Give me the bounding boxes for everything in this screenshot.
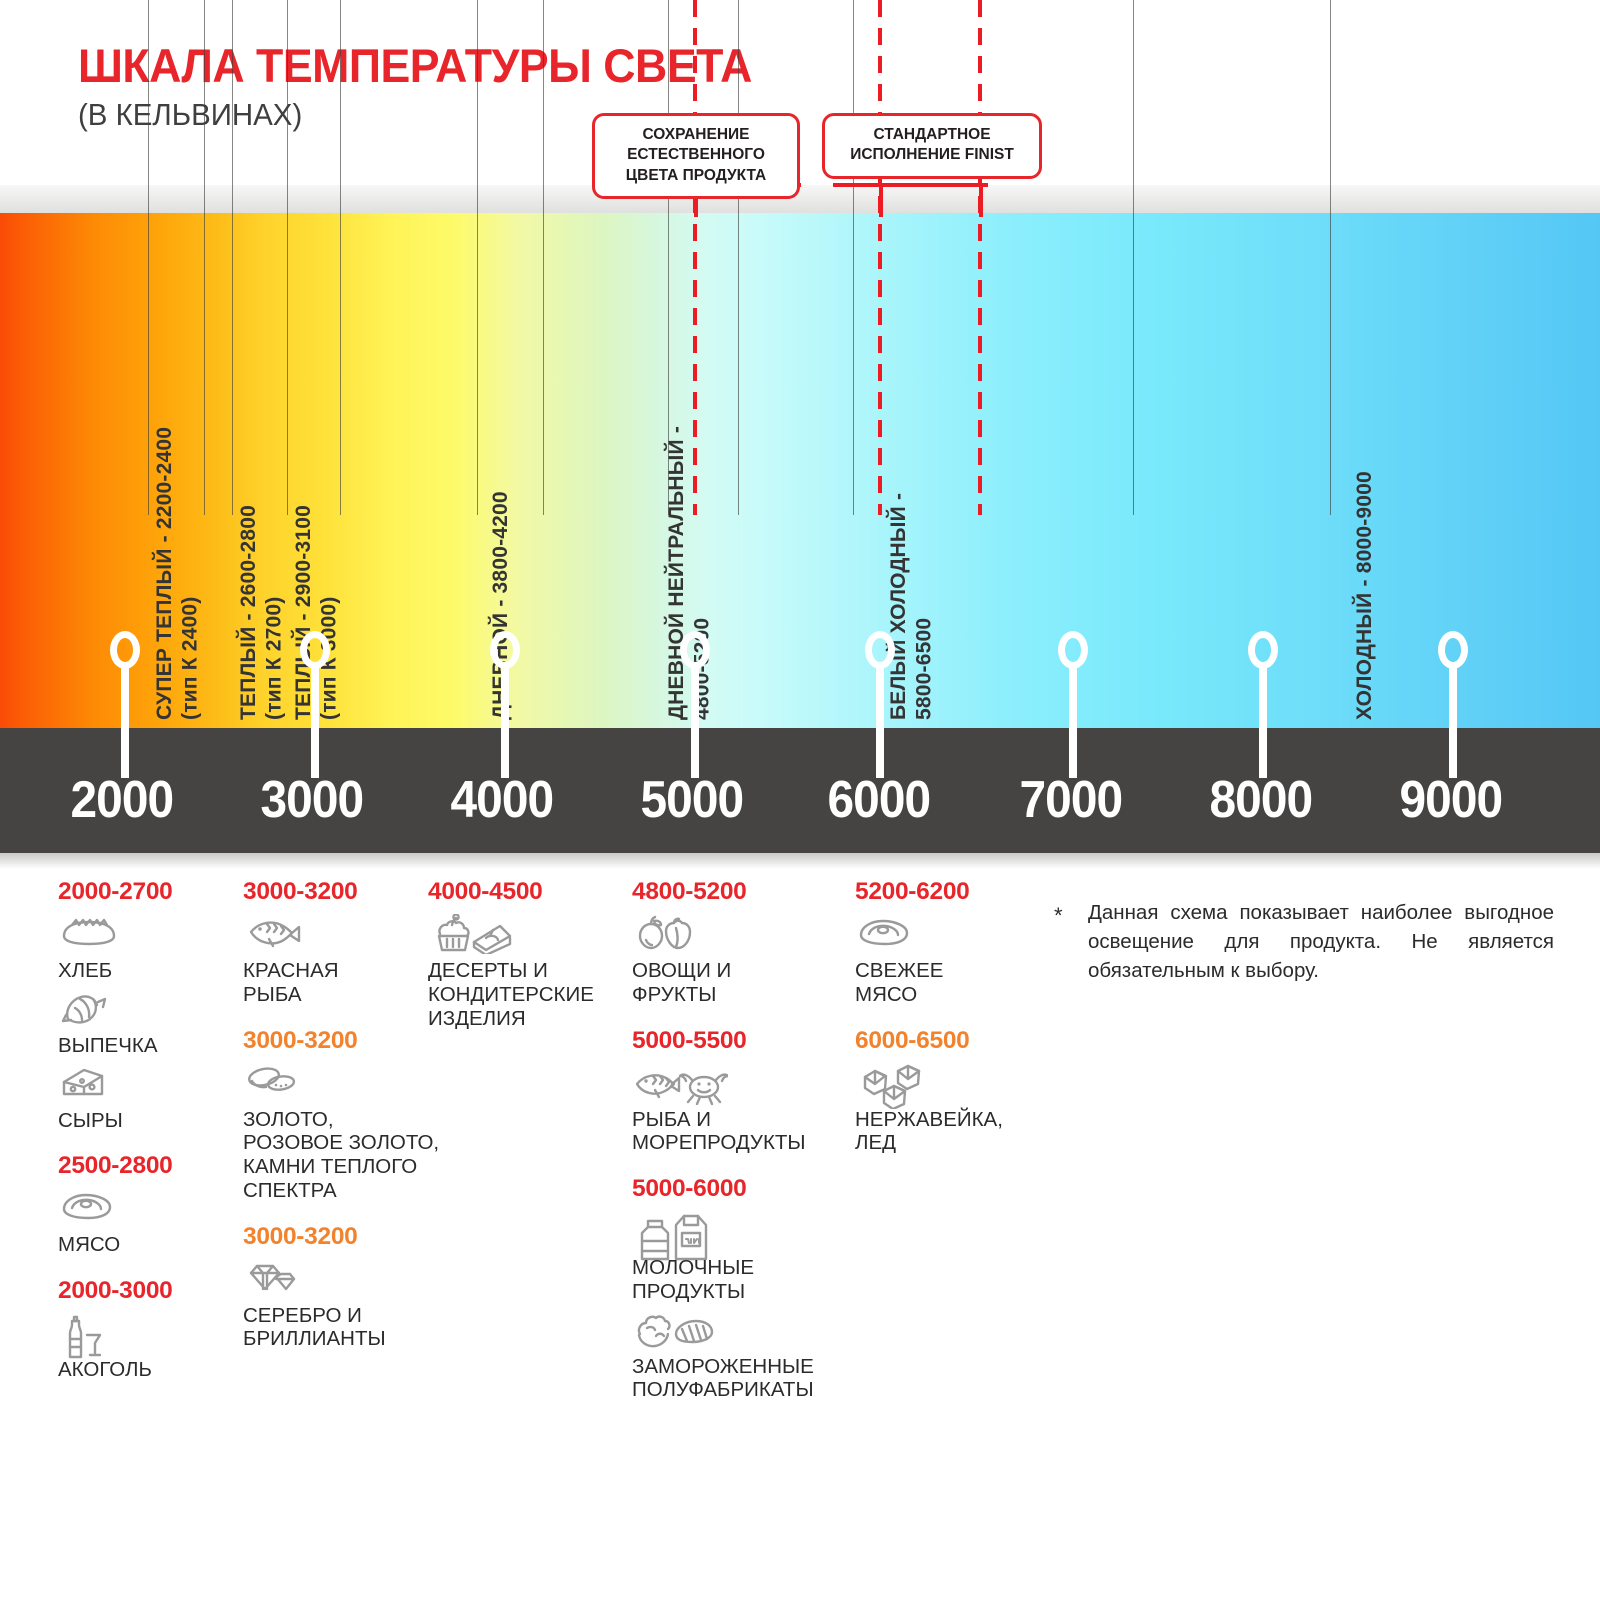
- legend-item-label: СЫРЫ: [58, 1109, 238, 1133]
- legend-range-label: 6000-6500: [855, 1027, 1040, 1055]
- band-divider: [477, 0, 478, 515]
- band-label-warm-2700: ТЕПЛЫЙ - 2600-2800 (тип К 2700): [236, 410, 287, 720]
- marker-stem: [121, 663, 129, 778]
- legend-item: КРАСНАЯ РЫБА: [243, 914, 443, 1007]
- legend-column-0: 2000-2700ХЛЕБВЫПЕЧКАСЫРЫ2500-2800МЯСО200…: [58, 878, 238, 1402]
- legend-group: 5200-6200СВЕЖЕЕ МЯСО: [855, 878, 1040, 1007]
- legend-range-label: 5200-6200: [855, 878, 1040, 906]
- milk-carton-icon: [632, 1211, 847, 1255]
- legend-range-label: 3000-3200: [243, 1027, 443, 1055]
- callout-connector-bar: [833, 183, 988, 187]
- legend-group: 3000-3200СЕРЕБРО И БРИЛЛИАНТЫ: [243, 1223, 443, 1352]
- band-divider: [738, 0, 739, 515]
- legend-item-label: СЕРЕБРО И БРИЛЛИАНТЫ: [243, 1304, 443, 1352]
- reference-line-6500: [978, 0, 982, 515]
- apple-pepper-icon: [632, 914, 847, 958]
- legend-column-3: 4800-5200ОВОЩИ И ФРУКТЫ5000-5500РЫБА И М…: [632, 878, 847, 1422]
- band-divider: [1330, 0, 1331, 515]
- cupcake-cake-icon: [428, 914, 623, 958]
- legend-range-label: 2000-3000: [58, 1277, 238, 1305]
- scale-tick-6000: 6000: [827, 770, 930, 830]
- frozen-food-icon: [632, 1310, 847, 1354]
- legend-item: СЫРЫ: [58, 1064, 238, 1133]
- legend-item: ХЛЕБ: [58, 914, 238, 983]
- band-divider: [148, 0, 149, 515]
- steak-icon: [58, 1188, 238, 1232]
- legend-item: НЕРЖАВЕЙКА, ЛЕД: [855, 1063, 1040, 1156]
- legend-item: ЗОЛОТО, РОЗОВОЕ ЗОЛОТО, КАМНИ ТЕПЛОГО СП…: [243, 1063, 443, 1203]
- scale-tick-7000: 7000: [1019, 770, 1122, 830]
- marker-stem: [311, 663, 319, 778]
- legend-item-label: ЗАМОРОЖЕННЫЕ ПОЛУФАБРИКАТЫ: [632, 1355, 847, 1403]
- legend-item-label: ЗОЛОТО, РОЗОВОЕ ЗОЛОТО, КАМНИ ТЕПЛОГО СП…: [243, 1108, 443, 1203]
- legend-group: 4000-4500ДЕСЕРТЫ И КОНДИТЕРСКИЕ ИЗДЕЛИЯ: [428, 878, 623, 1030]
- legend-group: 3000-3200КРАСНАЯ РЫБА: [243, 878, 443, 1007]
- legend-item-label: РЫБА И МОРЕПРОДУКТЫ: [632, 1108, 847, 1156]
- legend: 2000-2700ХЛЕБВЫПЕЧКАСЫРЫ2500-2800МЯСО200…: [0, 878, 1600, 1600]
- legend-item: АКОГОЛЬ: [58, 1313, 238, 1382]
- legend-group: 2000-3000АКОГОЛЬ: [58, 1277, 238, 1382]
- reference-line-5000: [693, 0, 697, 515]
- legend-column-4: 5200-6200СВЕЖЕЕ МЯСО6000-6500НЕРЖАВЕЙКА,…: [855, 878, 1040, 1175]
- legend-range-label: 5000-5500: [632, 1027, 847, 1055]
- legend-item: ДЕСЕРТЫ И КОНДИТЕРСКИЕ ИЗДЕЛИЯ: [428, 914, 623, 1030]
- scale-tick-3000: 3000: [260, 770, 363, 830]
- fish-crab-icon: [632, 1063, 847, 1107]
- band-label-cold: ХОЛОДНЫЙ - 8000-9000: [1352, 420, 1378, 720]
- legend-item-label: МОЛОЧНЫЕ ПРОДУКТЫ: [632, 1256, 847, 1304]
- scale-tick-4000: 4000: [450, 770, 553, 830]
- legend-item: МЯСО: [58, 1188, 238, 1257]
- band-divider: [232, 0, 233, 515]
- diamond-icon: [243, 1259, 443, 1303]
- legend-range-label: 3000-3200: [243, 1223, 443, 1251]
- band-label-super-warm: СУПЕР ТЕПЛЫЙ - 2200-2400 (тип К 2400): [152, 320, 203, 720]
- legend-column-2: 4000-4500ДЕСЕРТЫ И КОНДИТЕРСКИЕ ИЗДЕЛИЯ: [428, 878, 623, 1050]
- band-label-white-cold: БЕЛЫЙ ХОЛОДНЫЙ - 5800-6500: [886, 370, 937, 720]
- fresh-steak-icon: [855, 914, 1040, 958]
- legend-item-label: ХЛЕБ: [58, 959, 238, 983]
- callout-natural-color: СОХРАНЕНИЕ ЕСТЕСТВЕННОГО ЦВЕТА ПРОДУКТА: [592, 113, 800, 199]
- rings-icon: [243, 1063, 443, 1107]
- scale-bar-shadow: [0, 853, 1600, 869]
- legend-item-label: ДЕСЕРТЫ И КОНДИТЕРСКИЕ ИЗДЕЛИЯ: [428, 959, 623, 1030]
- legend-group: 5000-5500РЫБА И МОРЕПРОДУКТЫ: [632, 1027, 847, 1156]
- band-divider: [204, 0, 205, 515]
- legend-item-label: ВЫПЕЧКА: [58, 1034, 238, 1058]
- band-divider: [1133, 0, 1134, 515]
- scale-tick-8000: 8000: [1209, 770, 1312, 830]
- legend-group: 4800-5200ОВОЩИ И ФРУКТЫ: [632, 878, 847, 1007]
- band-divider: [543, 0, 544, 515]
- legend-range-label: 4800-5200: [632, 878, 847, 906]
- legend-item-label: МЯСО: [58, 1233, 238, 1257]
- page-title: ШКАЛА ТЕМПЕРАТУРЫ СВЕТА: [78, 38, 752, 93]
- reference-line-6000: [878, 0, 882, 515]
- header: ШКАЛА ТЕМПЕРАТУРЫ СВЕТА (В КЕЛЬВИНАХ): [0, 0, 1600, 200]
- page-subtitle: (В КЕЛЬВИНАХ): [78, 97, 302, 133]
- footnote-text: Данная схема показывает наиболее выгодно…: [1088, 898, 1554, 985]
- footnote: * Данная схема показывает наиболее выгод…: [1054, 898, 1554, 985]
- legend-item: МОЛОЧНЫЕ ПРОДУКТЫ: [632, 1211, 847, 1304]
- band-divider: [853, 0, 854, 515]
- legend-item-label: НЕРЖАВЕЙКА, ЛЕД: [855, 1108, 1040, 1156]
- bottle-glass-icon: [58, 1313, 238, 1357]
- legend-range-label: 2000-2700: [58, 878, 238, 906]
- marker-stem: [501, 663, 509, 778]
- fish-icon: [243, 914, 443, 958]
- marker-stem: [1259, 663, 1267, 778]
- legend-column-1: 3000-3200КРАСНАЯ РЫБА3000-3200ЗОЛОТО, РО…: [243, 878, 443, 1371]
- legend-item: РЫБА И МОРЕПРОДУКТЫ: [632, 1063, 847, 1156]
- marker-stem: [876, 663, 884, 778]
- croissant-icon: [58, 989, 238, 1033]
- legend-item-label: КРАСНАЯ РЫБА: [243, 959, 443, 1007]
- legend-item: СЕРЕБРО И БРИЛЛИАНТЫ: [243, 1259, 443, 1352]
- ice-cubes-icon: [855, 1063, 1040, 1107]
- legend-item-label: ОВОЩИ И ФРУКТЫ: [632, 959, 847, 1007]
- legend-item: ОВОЩИ И ФРУКТЫ: [632, 914, 847, 1007]
- legend-range-label: 5000-6000: [632, 1175, 847, 1203]
- legend-item: ЗАМОРОЖЕННЫЕ ПОЛУФАБРИКАТЫ: [632, 1310, 847, 1403]
- legend-item: СВЕЖЕЕ МЯСО: [855, 914, 1040, 1007]
- marker-stem: [691, 663, 699, 778]
- legend-item-label: АКОГОЛЬ: [58, 1358, 238, 1382]
- legend-group: 2000-2700ХЛЕБВЫПЕЧКАСЫРЫ: [58, 878, 238, 1132]
- scale-bar: [0, 728, 1600, 853]
- legend-group: 5000-6000МОЛОЧНЫЕ ПРОДУКТЫЗАМОРОЖЕННЫЕ П…: [632, 1175, 847, 1402]
- legend-item: ВЫПЕЧКА: [58, 989, 238, 1058]
- bread-icon: [58, 914, 238, 958]
- legend-range-label: 2500-2800: [58, 1152, 238, 1180]
- legend-group: 2500-2800МЯСО: [58, 1152, 238, 1257]
- bar-top-shadow: [0, 185, 1600, 215]
- footnote-marker: *: [1054, 900, 1063, 931]
- marker-stem: [1449, 663, 1457, 778]
- scale-tick-2000: 2000: [70, 770, 173, 830]
- scale-tick-9000: 9000: [1399, 770, 1502, 830]
- legend-item-label: СВЕЖЕЕ МЯСО: [855, 959, 1040, 1007]
- legend-group: 3000-3200ЗОЛОТО, РОЗОВОЕ ЗОЛОТО, КАМНИ Т…: [243, 1027, 443, 1203]
- cheese-icon: [58, 1064, 238, 1108]
- callout-finist-standard: СТАНДАРТНОЕ ИСПОЛНЕНИЕ FINIST: [822, 113, 1042, 179]
- legend-range-label: 3000-3200: [243, 878, 443, 906]
- scale-tick-5000: 5000: [640, 770, 743, 830]
- legend-group: 6000-6500НЕРЖАВЕЙКА, ЛЕД: [855, 1027, 1040, 1156]
- marker-stem: [1069, 663, 1077, 778]
- legend-range-label: 4000-4500: [428, 878, 623, 906]
